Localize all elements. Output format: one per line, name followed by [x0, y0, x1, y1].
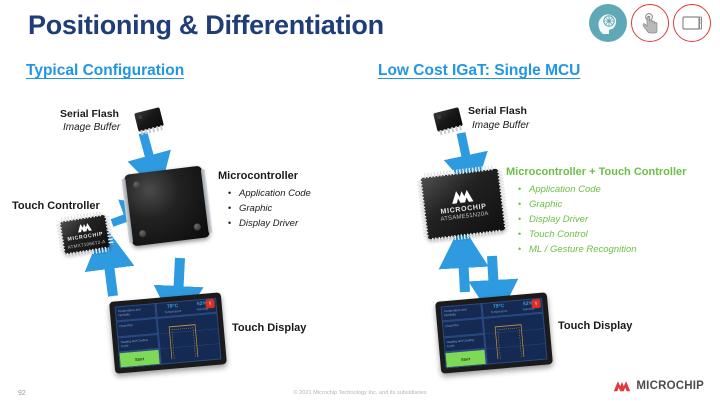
left-mcu-bullet-item: •Graphic [228, 201, 311, 216]
left-mcu-bullet-label: Graphic [239, 201, 272, 216]
left-mcu-bullet-label: Display Driver [239, 216, 298, 231]
right-mcu-bullet-item: •Touch Control [518, 227, 637, 242]
display-row-label: Temperature and Humidity [116, 304, 156, 319]
right-mcu-bullet-item: •ML / Gesture Recognition [518, 242, 637, 257]
left-serial-flash-title: Serial Flash [60, 108, 119, 120]
display-row-label: Chart Plot [443, 319, 482, 330]
display-alarm-badge[interactable]: ! [205, 299, 215, 309]
page-title: Positioning & Differentiation [28, 10, 384, 41]
right-touch-display-panel[interactable]: Temperature and Humidity 79°C Temperatur… [435, 292, 553, 373]
right-column-heading: Low Cost IGaT: Single MCU [378, 62, 580, 80]
bullet-dot-icon: • [518, 182, 529, 197]
microchip-logo: MICROCHIP [612, 378, 704, 394]
microchip-wordmark: MICROCHIP [636, 380, 704, 392]
bullet-dot-icon: • [228, 216, 239, 231]
left-microcontroller-title: Microcontroller [218, 170, 298, 182]
left-serial-flash-chip [134, 107, 164, 132]
display-screen-icon [673, 4, 711, 42]
chip-microchip-logo-icon [448, 186, 476, 206]
left-touch-display-panel[interactable]: Temperature and Humidity 79°C Temperatur… [109, 292, 227, 373]
slide-canvas: Positioning & Differentiation [0, 0, 720, 406]
right-touch-display-title: Touch Display [558, 320, 632, 332]
left-mcu-bullet-label: Application Code [239, 186, 311, 201]
right-serial-flash-subtitle: Image Buffer [472, 120, 529, 131]
right-mcu-bullet-item: •Application Code [518, 182, 637, 197]
display-row-label: Temperature and Humidity [442, 304, 482, 319]
right-serial-flash-chip [433, 107, 463, 132]
right-mcu-bullets: •Application Code•Graphic•Display Driver… [518, 182, 637, 257]
left-touch-display-title: Touch Display [232, 322, 306, 334]
microchip-mark-icon [612, 378, 632, 394]
right-mcu-bullet-item: •Graphic [518, 197, 637, 212]
display-readout: 79°C Temperature [490, 303, 508, 314]
right-mcu-bullet-label: Display Driver [529, 212, 588, 227]
bullet-dot-icon: • [518, 212, 529, 227]
display-chart [482, 312, 547, 364]
left-mcu-bullet-item: •Display Driver [228, 216, 311, 231]
left-microcontroller-bullets: •Application Code•Graphic•Display Driver [228, 186, 311, 231]
left-mcu-bullet-item: •Application Code [228, 186, 311, 201]
display-chart [156, 312, 221, 364]
right-mcu-bullet-label: ML / Gesture Recognition [529, 242, 637, 257]
left-touch-controller-title: Touch Controller [12, 200, 100, 212]
left-serial-flash-subtitle: Image Buffer [63, 122, 120, 133]
top-icon-cluster [589, 4, 711, 42]
right-mcu-bullet-label: Graphic [529, 197, 562, 212]
right-mcu-bullet-label: Application Code [529, 182, 601, 197]
right-mcu-bullet-label: Touch Control [529, 227, 588, 242]
brain-head-icon [589, 4, 627, 42]
left-microcontroller-chip [124, 166, 210, 247]
display-row-label: Heating and Cooling Cycle [444, 335, 484, 350]
right-mcu-title: Microcontroller + Touch Controller [506, 166, 686, 178]
display-row-label: Chart Plot [117, 319, 156, 330]
left-column-heading: Typical Configuration [26, 62, 184, 80]
bullet-dot-icon: • [228, 201, 239, 216]
right-mcu-chip: MICROCHIP ATSAME51N20A [421, 168, 506, 239]
touch-hand-icon [631, 4, 669, 42]
bullet-dot-icon: • [228, 186, 239, 201]
bullet-dot-icon: • [518, 242, 529, 257]
right-mcu-bullet-item: •Display Driver [518, 212, 637, 227]
bullet-dot-icon: • [518, 227, 529, 242]
bullet-dot-icon: • [518, 197, 529, 212]
display-row-label: Heating and Cooling Cycle [118, 335, 158, 350]
right-serial-flash-title: Serial Flash [468, 105, 527, 117]
display-alarm-badge[interactable]: ! [531, 299, 541, 309]
display-readout: 79°C Temperature [164, 303, 182, 314]
left-touch-controller-chip: MICROCHIP ATMXT1066T2-A [60, 215, 111, 255]
